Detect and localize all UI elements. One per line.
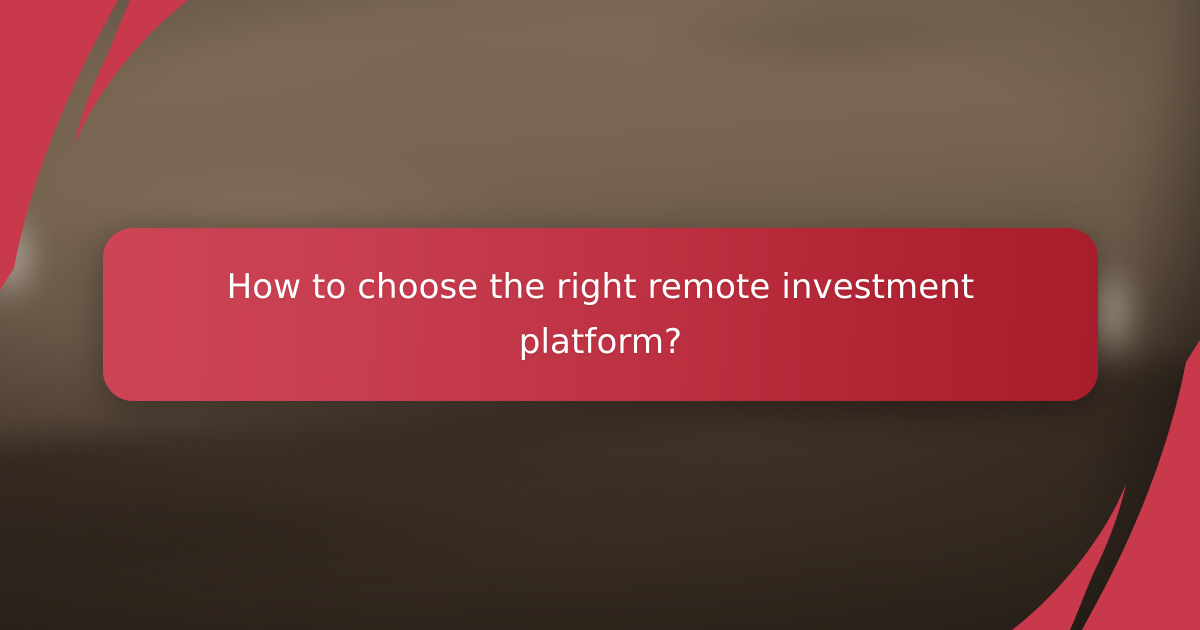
page-title: How to choose the right remote investmen… <box>221 260 981 370</box>
social-share-card: How to choose the right remote investmen… <box>0 0 1200 630</box>
title-card: How to choose the right remote investmen… <box>103 228 1098 401</box>
